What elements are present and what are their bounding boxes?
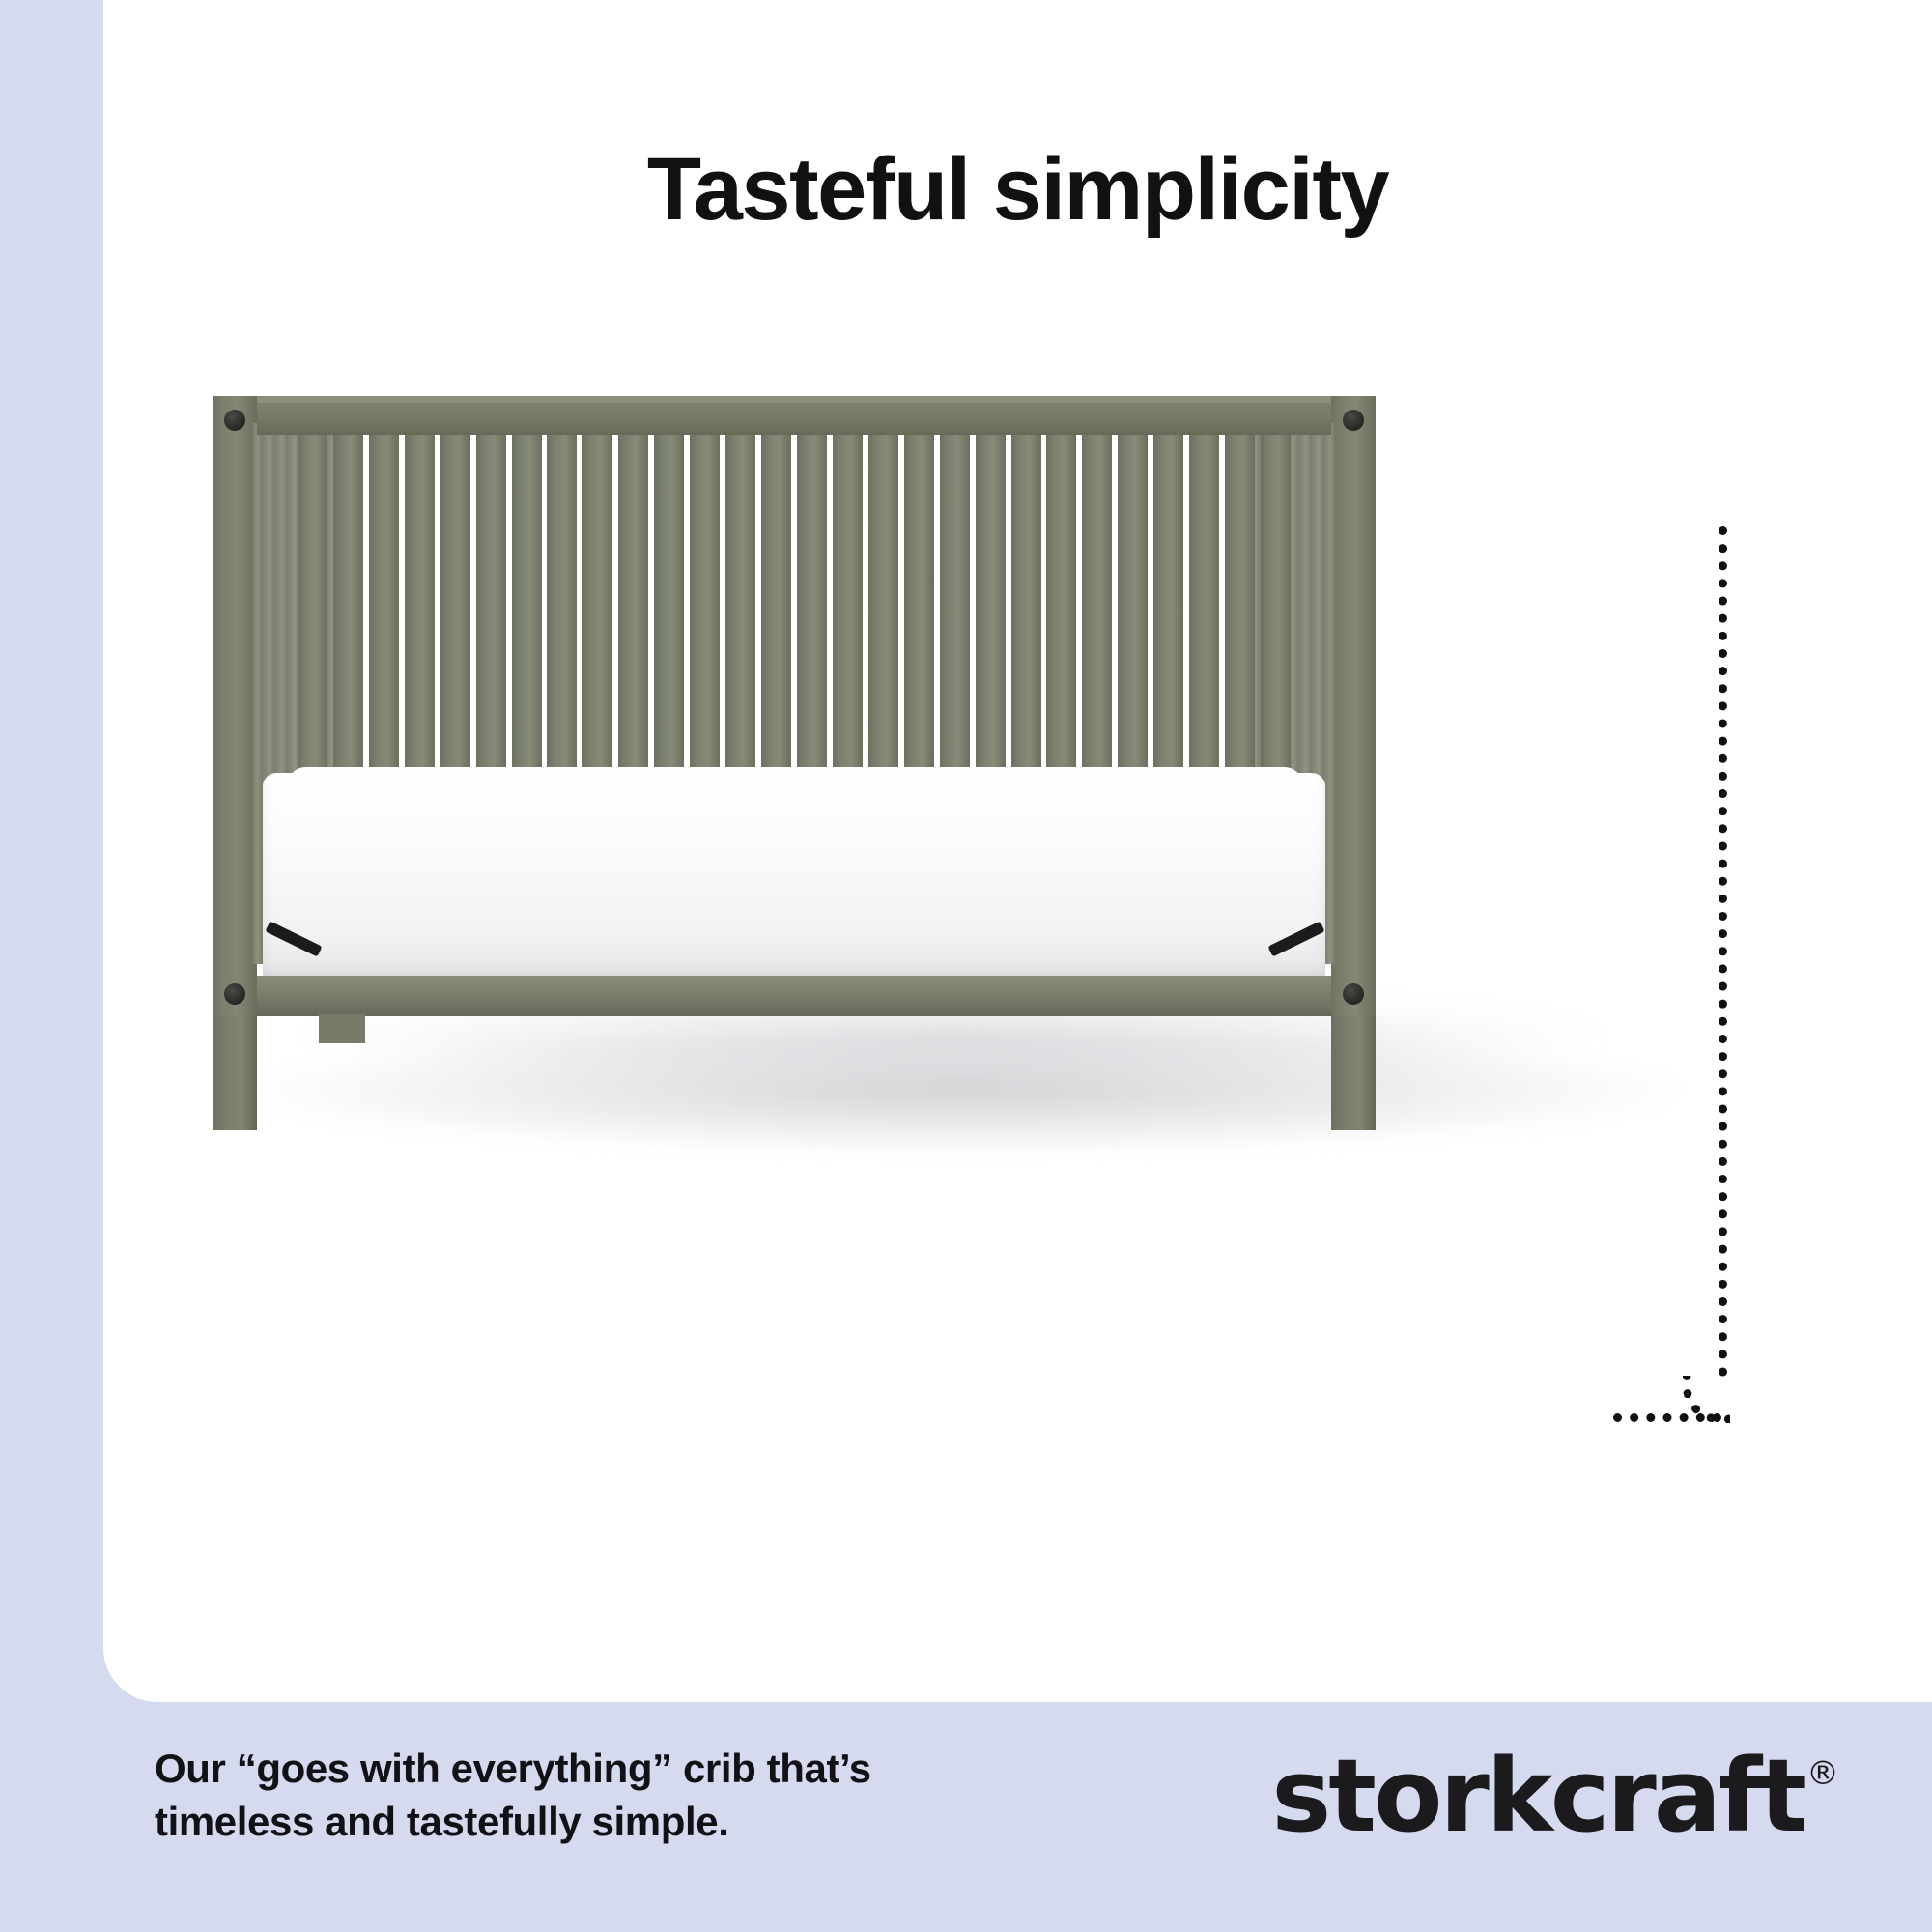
tagline: Our “goes with everything” crib that’s t… <box>155 1743 1072 1848</box>
crib-mattress <box>263 773 1325 980</box>
crib-bottom-rail <box>257 976 1331 1016</box>
bolt-cap-icon <box>1343 983 1364 1005</box>
crib-top-rail-highlight <box>257 396 1331 403</box>
page-title: Tasteful simplicity <box>103 145 1932 234</box>
crib-center-support-foot <box>319 1014 365 1043</box>
bolt-cap-icon <box>224 410 245 431</box>
bolt-cap-icon <box>1343 410 1364 431</box>
crib-leg-right <box>1331 1016 1376 1130</box>
measurement-guide-horizontal <box>1613 1413 1721 1422</box>
crib-post-right <box>1331 396 1376 1072</box>
tagline-line-2: timeless and tastefully simple. <box>155 1796 1072 1849</box>
brand-logo: storkcraft ® <box>1271 1748 1839 1844</box>
measurement-guide-vertical <box>1719 526 1727 1377</box>
registered-trademark-icon: ® <box>1806 1754 1839 1793</box>
product-photo <box>103 319 1932 1381</box>
footer-bar: Our “goes with everything” crib that’s t… <box>0 1702 1932 1932</box>
crib-illustration <box>205 396 1383 1140</box>
ad-canvas: Tasteful simplicity <box>0 0 1932 1932</box>
crib-post-left <box>213 396 257 1072</box>
tagline-line-1: Our “goes with everything” crib that’s <box>155 1743 1072 1796</box>
crib-leg-left <box>213 1016 257 1130</box>
brand-logo-wordmark: storkcraft <box>1271 1748 1804 1844</box>
bolt-cap-icon <box>224 983 245 1005</box>
